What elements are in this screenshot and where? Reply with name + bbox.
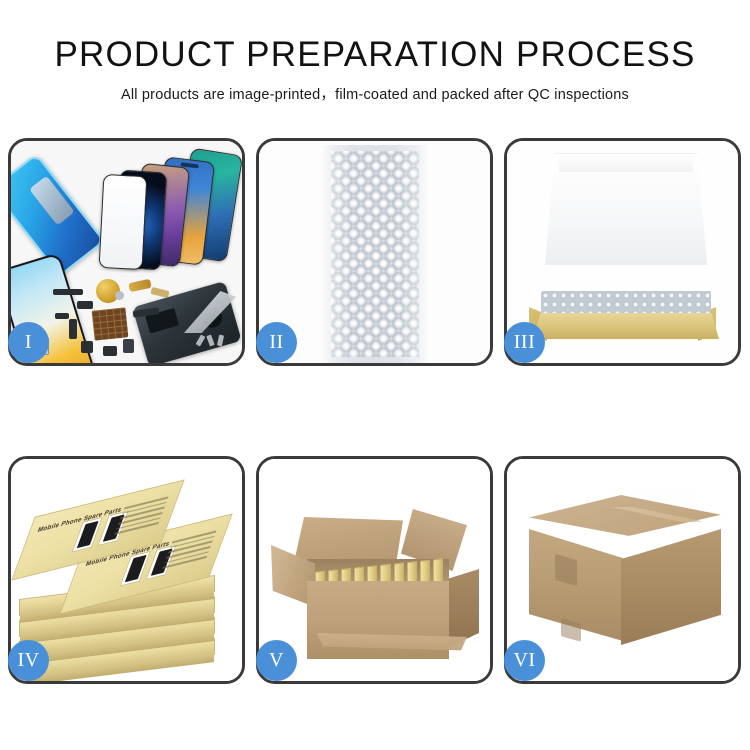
connector-grid-icon bbox=[92, 307, 129, 340]
part-speaker-box bbox=[123, 339, 134, 353]
step-badge-vi: VI bbox=[504, 640, 545, 681]
part-taptic-engine bbox=[103, 346, 117, 356]
step-v-image bbox=[259, 459, 490, 681]
phone-screen-fan bbox=[99, 149, 242, 274]
step-panel-v: V bbox=[256, 456, 493, 684]
part-button-flex bbox=[69, 319, 77, 339]
carton-side-face bbox=[449, 569, 479, 647]
product-preparation-infographic: PRODUCT PREPARATION PROCESS All products… bbox=[0, 0, 750, 750]
step-panel-vi: VI bbox=[504, 456, 741, 684]
page-title: PRODUCT PREPARATION PROCESS bbox=[0, 34, 750, 76]
step-panel-iii: III bbox=[504, 138, 741, 366]
sealed-carton-right-face bbox=[621, 529, 721, 645]
mailer-base-icon bbox=[533, 313, 719, 339]
step-iii-image bbox=[507, 141, 738, 363]
retail-box-stack-icon: Mobile Phone Spare Parts Mobile Phone Sp… bbox=[15, 475, 239, 671]
part-lens-ring bbox=[115, 291, 124, 300]
step-badge-i: I bbox=[8, 322, 49, 363]
step-ii-image bbox=[259, 141, 490, 363]
sealed-carton-icon bbox=[529, 485, 721, 657]
part-ribbon-cable bbox=[55, 313, 69, 319]
page-subtitle: All products are image-printed，film-coat… bbox=[0, 83, 750, 104]
step-panel-i: I bbox=[8, 138, 245, 366]
retail-box-spec-lines-back bbox=[113, 496, 168, 538]
phone-screen-1 bbox=[99, 174, 148, 270]
step-panel-ii: II bbox=[256, 138, 493, 366]
pouch-sheen bbox=[323, 145, 427, 363]
process-steps-grid: I II III bbox=[8, 138, 742, 684]
step-badge-v: V bbox=[256, 640, 297, 681]
bubble-wrap-pouch-icon bbox=[323, 145, 427, 363]
step-badge-iii: III bbox=[504, 322, 545, 363]
part-camera-module bbox=[81, 341, 93, 353]
header: PRODUCT PREPARATION PROCESS All products… bbox=[0, 0, 750, 104]
screws-icon bbox=[198, 335, 228, 349]
step-vi-image bbox=[507, 459, 738, 681]
mailer-lid-icon bbox=[545, 153, 707, 265]
step-panel-iv: Mobile Phone Spare Parts Mobile Phone Sp… bbox=[8, 456, 245, 684]
step-badge-iv: IV bbox=[8, 640, 49, 681]
step-iv-image: Mobile Phone Spare Parts Mobile Phone Sp… bbox=[11, 459, 242, 681]
step-badge-ii: II bbox=[256, 322, 297, 363]
part-flex-strip bbox=[53, 289, 83, 295]
step-i-image bbox=[11, 141, 242, 363]
retail-box-spec-lines-front bbox=[161, 530, 216, 572]
open-carton-icon bbox=[269, 493, 483, 671]
part-chip-small bbox=[77, 301, 93, 309]
